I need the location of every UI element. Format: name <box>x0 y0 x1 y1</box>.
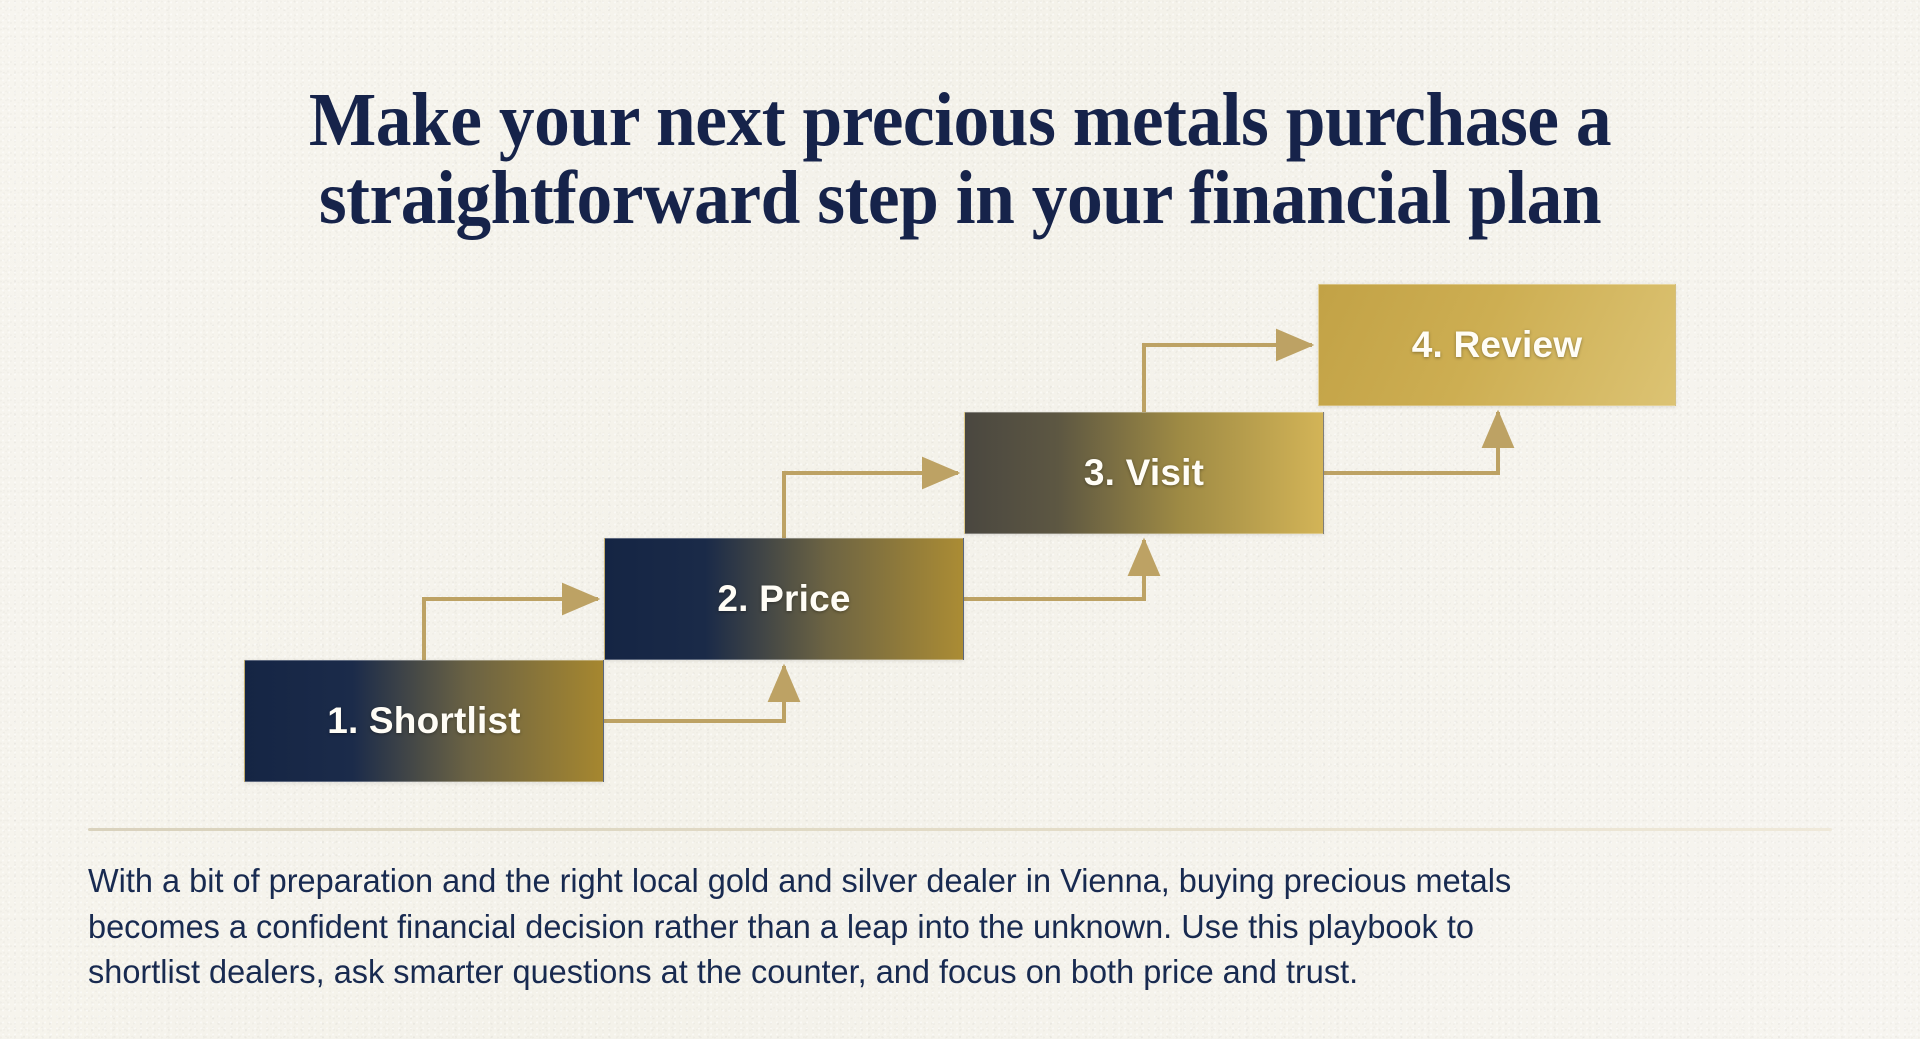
step-box-4[interactable]: 4. Review <box>1318 284 1676 406</box>
connector-forward-1-2 <box>424 599 598 660</box>
step-box-1[interactable]: 1. Shortlist <box>244 660 604 782</box>
section-divider <box>88 828 1832 831</box>
step-box-1-label: 1. Shortlist <box>327 700 521 742</box>
connector-forward-2-3 <box>784 473 958 538</box>
step-box-3[interactable]: 3. Visit <box>964 412 1324 534</box>
connector-return-2-3 <box>964 540 1144 599</box>
body-copy-line-3: shortlist dealers, ask smarter questions… <box>88 949 1833 995</box>
step-box-3-label: 3. Visit <box>1084 452 1204 494</box>
connector-forward-3-4 <box>1144 345 1312 412</box>
connector-return-3-4 <box>1324 412 1498 473</box>
step-box-4-label: 4. Review <box>1412 324 1582 366</box>
connector-return-1-2 <box>604 666 784 721</box>
step-box-2[interactable]: 2. Price <box>604 538 964 660</box>
body-copy: With a bit of preparation and the right … <box>88 858 1833 995</box>
body-copy-line-2: becomes a confident financial decision r… <box>88 904 1833 950</box>
body-copy-line-1: With a bit of preparation and the right … <box>88 858 1833 904</box>
step-box-2-label: 2. Price <box>717 578 850 620</box>
